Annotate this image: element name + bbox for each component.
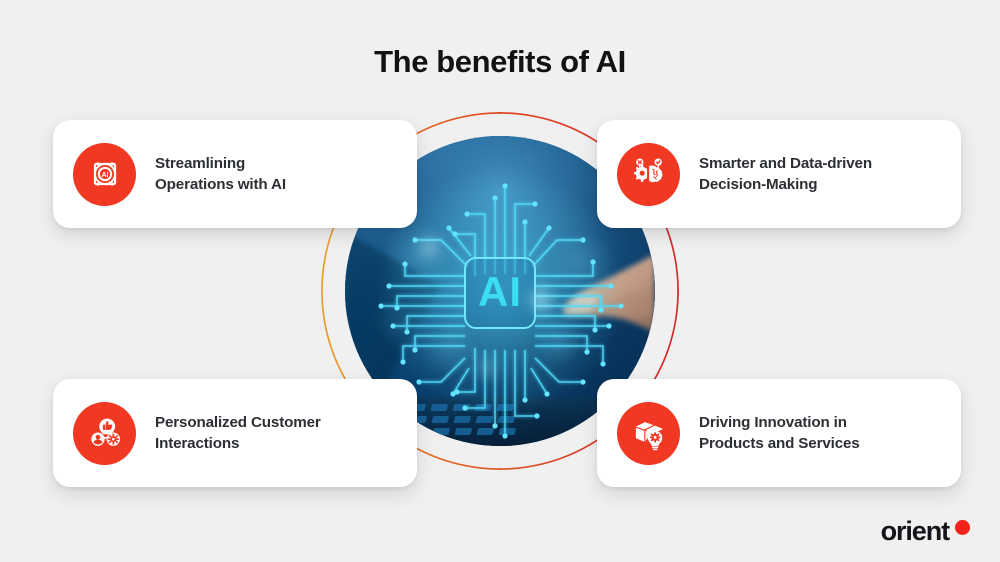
benefit-card-label: Streamlining Operations with AI <box>155 153 286 195</box>
logo-wordmark: orient <box>881 518 949 545</box>
logo-dot-icon <box>955 520 970 535</box>
infographic-canvas: The benefits of AI <box>0 0 1000 562</box>
benefit-card-driving-innovation[interactable]: Driving Innovation in Products and Servi… <box>597 379 961 487</box>
benefit-card-label: Driving Innovation in Products and Servi… <box>699 412 860 454</box>
orient-logo[interactable]: orient <box>881 518 970 545</box>
benefit-card-line1: Streamlining <box>155 155 245 172</box>
box-lightbulb-gear-icon <box>617 402 680 465</box>
benefit-card-personalized-customer[interactable]: Personalized Customer Interactions <box>53 379 417 487</box>
benefit-card-decision-making[interactable]: Smarter and Data-driven Decision-Making <box>597 120 961 228</box>
benefit-card-line2: Operations with AI <box>155 174 286 195</box>
benefit-card-line2: Decision-Making <box>699 174 872 195</box>
page-title: The benefits of AI <box>0 42 1000 82</box>
customer-thumbsup-gear-icon <box>73 402 136 465</box>
brain-gear-decision-icon <box>617 143 680 206</box>
benefit-card-line2: Products and Services <box>699 433 860 454</box>
svg-text:AI: AI <box>101 172 108 179</box>
ai-cycle-arrows-icon: AI <box>73 143 136 206</box>
benefit-card-line1: Personalized Customer <box>155 414 321 431</box>
benefit-card-line1: Smarter and Data-driven <box>699 155 872 172</box>
benefit-card-label: Personalized Customer Interactions <box>155 412 321 454</box>
benefit-card-line2: Interactions <box>155 433 321 454</box>
chip-ai-label: AI <box>478 268 522 315</box>
benefit-card-streamlining-operations[interactable]: AI Streamlining Operations with AI <box>53 120 417 228</box>
benefit-card-line1: Driving Innovation in <box>699 414 847 431</box>
benefit-card-label: Smarter and Data-driven Decision-Making <box>699 153 872 195</box>
